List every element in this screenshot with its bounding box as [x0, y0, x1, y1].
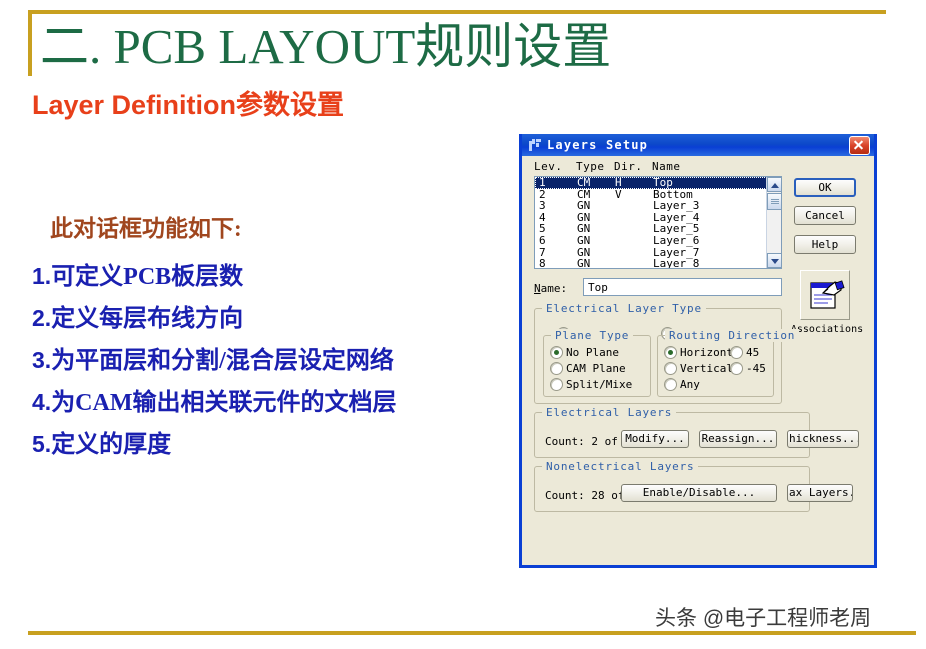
table-row[interactable]: 1CMHTop — [535, 177, 781, 189]
radio-minus-45[interactable]: -45 — [730, 362, 766, 375]
cell-type: GN — [577, 235, 615, 247]
column-header-dir: Dir. — [614, 160, 652, 173]
thickness-button[interactable]: hickness... — [787, 430, 859, 448]
radio-label: -45 — [746, 362, 766, 375]
radio-dot-icon — [664, 378, 677, 391]
list-item-label: 为平面层和分割/混合层设定网络 — [51, 348, 394, 374]
cell-lev: 1 — [539, 177, 577, 189]
associations-button[interactable] — [800, 270, 850, 320]
close-icon[interactable] — [849, 136, 870, 155]
list-item-number: 3. — [32, 347, 51, 373]
frame-top-rule — [28, 10, 886, 14]
radio-dot-icon — [730, 362, 743, 375]
radio-label: No Plane — [566, 346, 619, 359]
radio-dot-icon — [550, 362, 563, 375]
scroll-up-icon[interactable] — [767, 177, 782, 192]
group-title: Electrical Layers — [542, 406, 676, 419]
help-button[interactable]: Help — [794, 235, 856, 254]
nonelectrical-layers-group: Nonelectrical Layers Count: 28 of Enable… — [534, 466, 810, 512]
radio-no-plane[interactable]: No Plane — [550, 346, 619, 359]
layer-list-header: Lev.TypeDir.Name — [534, 160, 681, 173]
radio-dot-icon — [550, 378, 563, 391]
plane-type-group: Plane Type No Plane CAM Plane Split/Mixe — [543, 335, 651, 397]
cell-name: Layer_6 — [653, 235, 699, 247]
max-layers-button[interactable]: ax Layers.. — [787, 484, 853, 502]
intro-text: 此对话框功能如下: — [50, 214, 242, 244]
cell-dir: H — [615, 177, 653, 189]
cell-type: CM — [577, 177, 615, 189]
cell-name: Layer_8 — [653, 258, 699, 269]
radio-45[interactable]: 45 — [730, 346, 759, 359]
cell-dir: V — [615, 189, 653, 201]
radio-label: 45 — [746, 346, 759, 359]
electrical-layer-type-group: Electrical Layer Type Component Routing … — [534, 308, 782, 404]
list-item-number: 1. — [32, 263, 51, 289]
list-item-number: 5. — [32, 431, 51, 457]
watermark: 头条 @电子工程师老周 — [655, 602, 871, 632]
list-item-label: 定义的厚度 — [51, 432, 171, 458]
column-header-name: Name — [652, 160, 681, 173]
scrollbar-thumb[interactable] — [767, 193, 782, 210]
scroll-down-icon[interactable] — [767, 253, 782, 268]
dialog-title: Layers Setup — [547, 138, 849, 152]
routing-direction-group: Routing Direction Horizonta Vertical Any — [657, 335, 774, 397]
radio-vertical[interactable]: Vertical — [664, 362, 733, 375]
column-header-lev: Lev. — [534, 160, 576, 173]
list-item-label: 可定义PCB板层数 — [51, 264, 243, 290]
cell-lev: 8 — [539, 258, 577, 269]
radio-split-mixed[interactable]: Split/Mixe — [550, 378, 632, 391]
column-header-type: Type — [576, 160, 614, 173]
list-item-label: 定义每层布线方向 — [51, 306, 243, 332]
group-title: Nonelectrical Layers — [542, 460, 698, 473]
table-row[interactable]: 6GNLayer_6 — [535, 235, 781, 247]
list-item-number: 2. — [32, 305, 51, 331]
dialog-body: Lev.TypeDir.Name 1CMHTop 2CMVBottom 3GNL… — [522, 156, 874, 565]
radio-label: Vertical — [680, 362, 733, 375]
slide-page: 二. PCB LAYOUT规则设置 Layer Definition参数设置 此… — [0, 0, 926, 649]
radio-dot-icon — [550, 346, 563, 359]
layer-listbox[interactable]: 1CMHTop 2CMVBottom 3GNLayer_3 4GNLayer_4… — [534, 176, 782, 269]
cancel-button[interactable]: Cancel — [794, 206, 856, 225]
list-item: 1.可定义PCB板层数 — [32, 256, 502, 298]
cell-name: Top — [653, 177, 673, 189]
list-item: 5.定义的厚度 — [32, 424, 502, 466]
name-field-label: Name: — [534, 282, 567, 295]
bullet-list: 1.可定义PCB板层数 2.定义每层布线方向 3.为平面层和分割/混合层设定网络… — [32, 256, 502, 466]
cell-type: GN — [577, 258, 615, 269]
page-title: 二. PCB LAYOUT规则设置 — [40, 18, 611, 76]
layer-list-scrollbar[interactable] — [766, 177, 781, 268]
list-item: 3.为平面层和分割/混合层设定网络 — [32, 340, 502, 382]
table-row[interactable]: 8GNLayer_8 — [535, 258, 781, 269]
radio-dot-icon — [664, 362, 677, 375]
layers-icon — [528, 138, 542, 152]
electrical-layers-group: Electrical Layers Count: 2 of Modify... … — [534, 412, 810, 458]
name-input[interactable] — [583, 278, 782, 296]
dialog-titlebar[interactable]: Layers Setup — [522, 134, 874, 156]
radio-any[interactable]: Any — [664, 378, 700, 391]
list-item-label: 为CAM输出相关联元件的文档层 — [51, 390, 396, 416]
frame-left-rule — [28, 10, 32, 76]
group-title: Plane Type — [551, 329, 633, 342]
radio-dot-icon — [730, 346, 743, 359]
ok-button[interactable]: OK — [794, 178, 856, 197]
radio-label: Any — [680, 378, 700, 391]
group-title: Routing Direction — [665, 329, 799, 342]
radio-label: CAM Plane — [566, 362, 626, 375]
list-item: 4.为CAM输出相关联元件的文档层 — [32, 382, 502, 424]
hand-writing-document-icon — [808, 277, 845, 314]
radio-horizontal[interactable]: Horizonta — [664, 346, 736, 359]
layers-setup-dialog: Layers Setup Lev.TypeDir.Name 1CMHTop 2C… — [519, 134, 877, 568]
group-title: Electrical Layer Type — [542, 302, 706, 315]
radio-label: Horizonta — [680, 346, 736, 359]
cell-lev: 6 — [539, 235, 577, 247]
list-item: 2.定义每层布线方向 — [32, 298, 502, 340]
electrical-layers-count: Count: 2 of — [545, 435, 618, 448]
modify-button[interactable]: Modify... — [621, 430, 689, 448]
enable-disable-button[interactable]: Enable/Disable... — [621, 484, 777, 502]
reassign-button[interactable]: Reassign... — [699, 430, 777, 448]
radio-cam-plane[interactable]: CAM Plane — [550, 362, 626, 375]
radio-label: Split/Mixe — [566, 378, 632, 391]
page-subtitle: Layer Definition参数设置 — [32, 88, 344, 122]
nonelectrical-layers-count: Count: 28 of — [545, 489, 624, 502]
list-item-number: 4. — [32, 389, 51, 415]
radio-dot-icon — [664, 346, 677, 359]
